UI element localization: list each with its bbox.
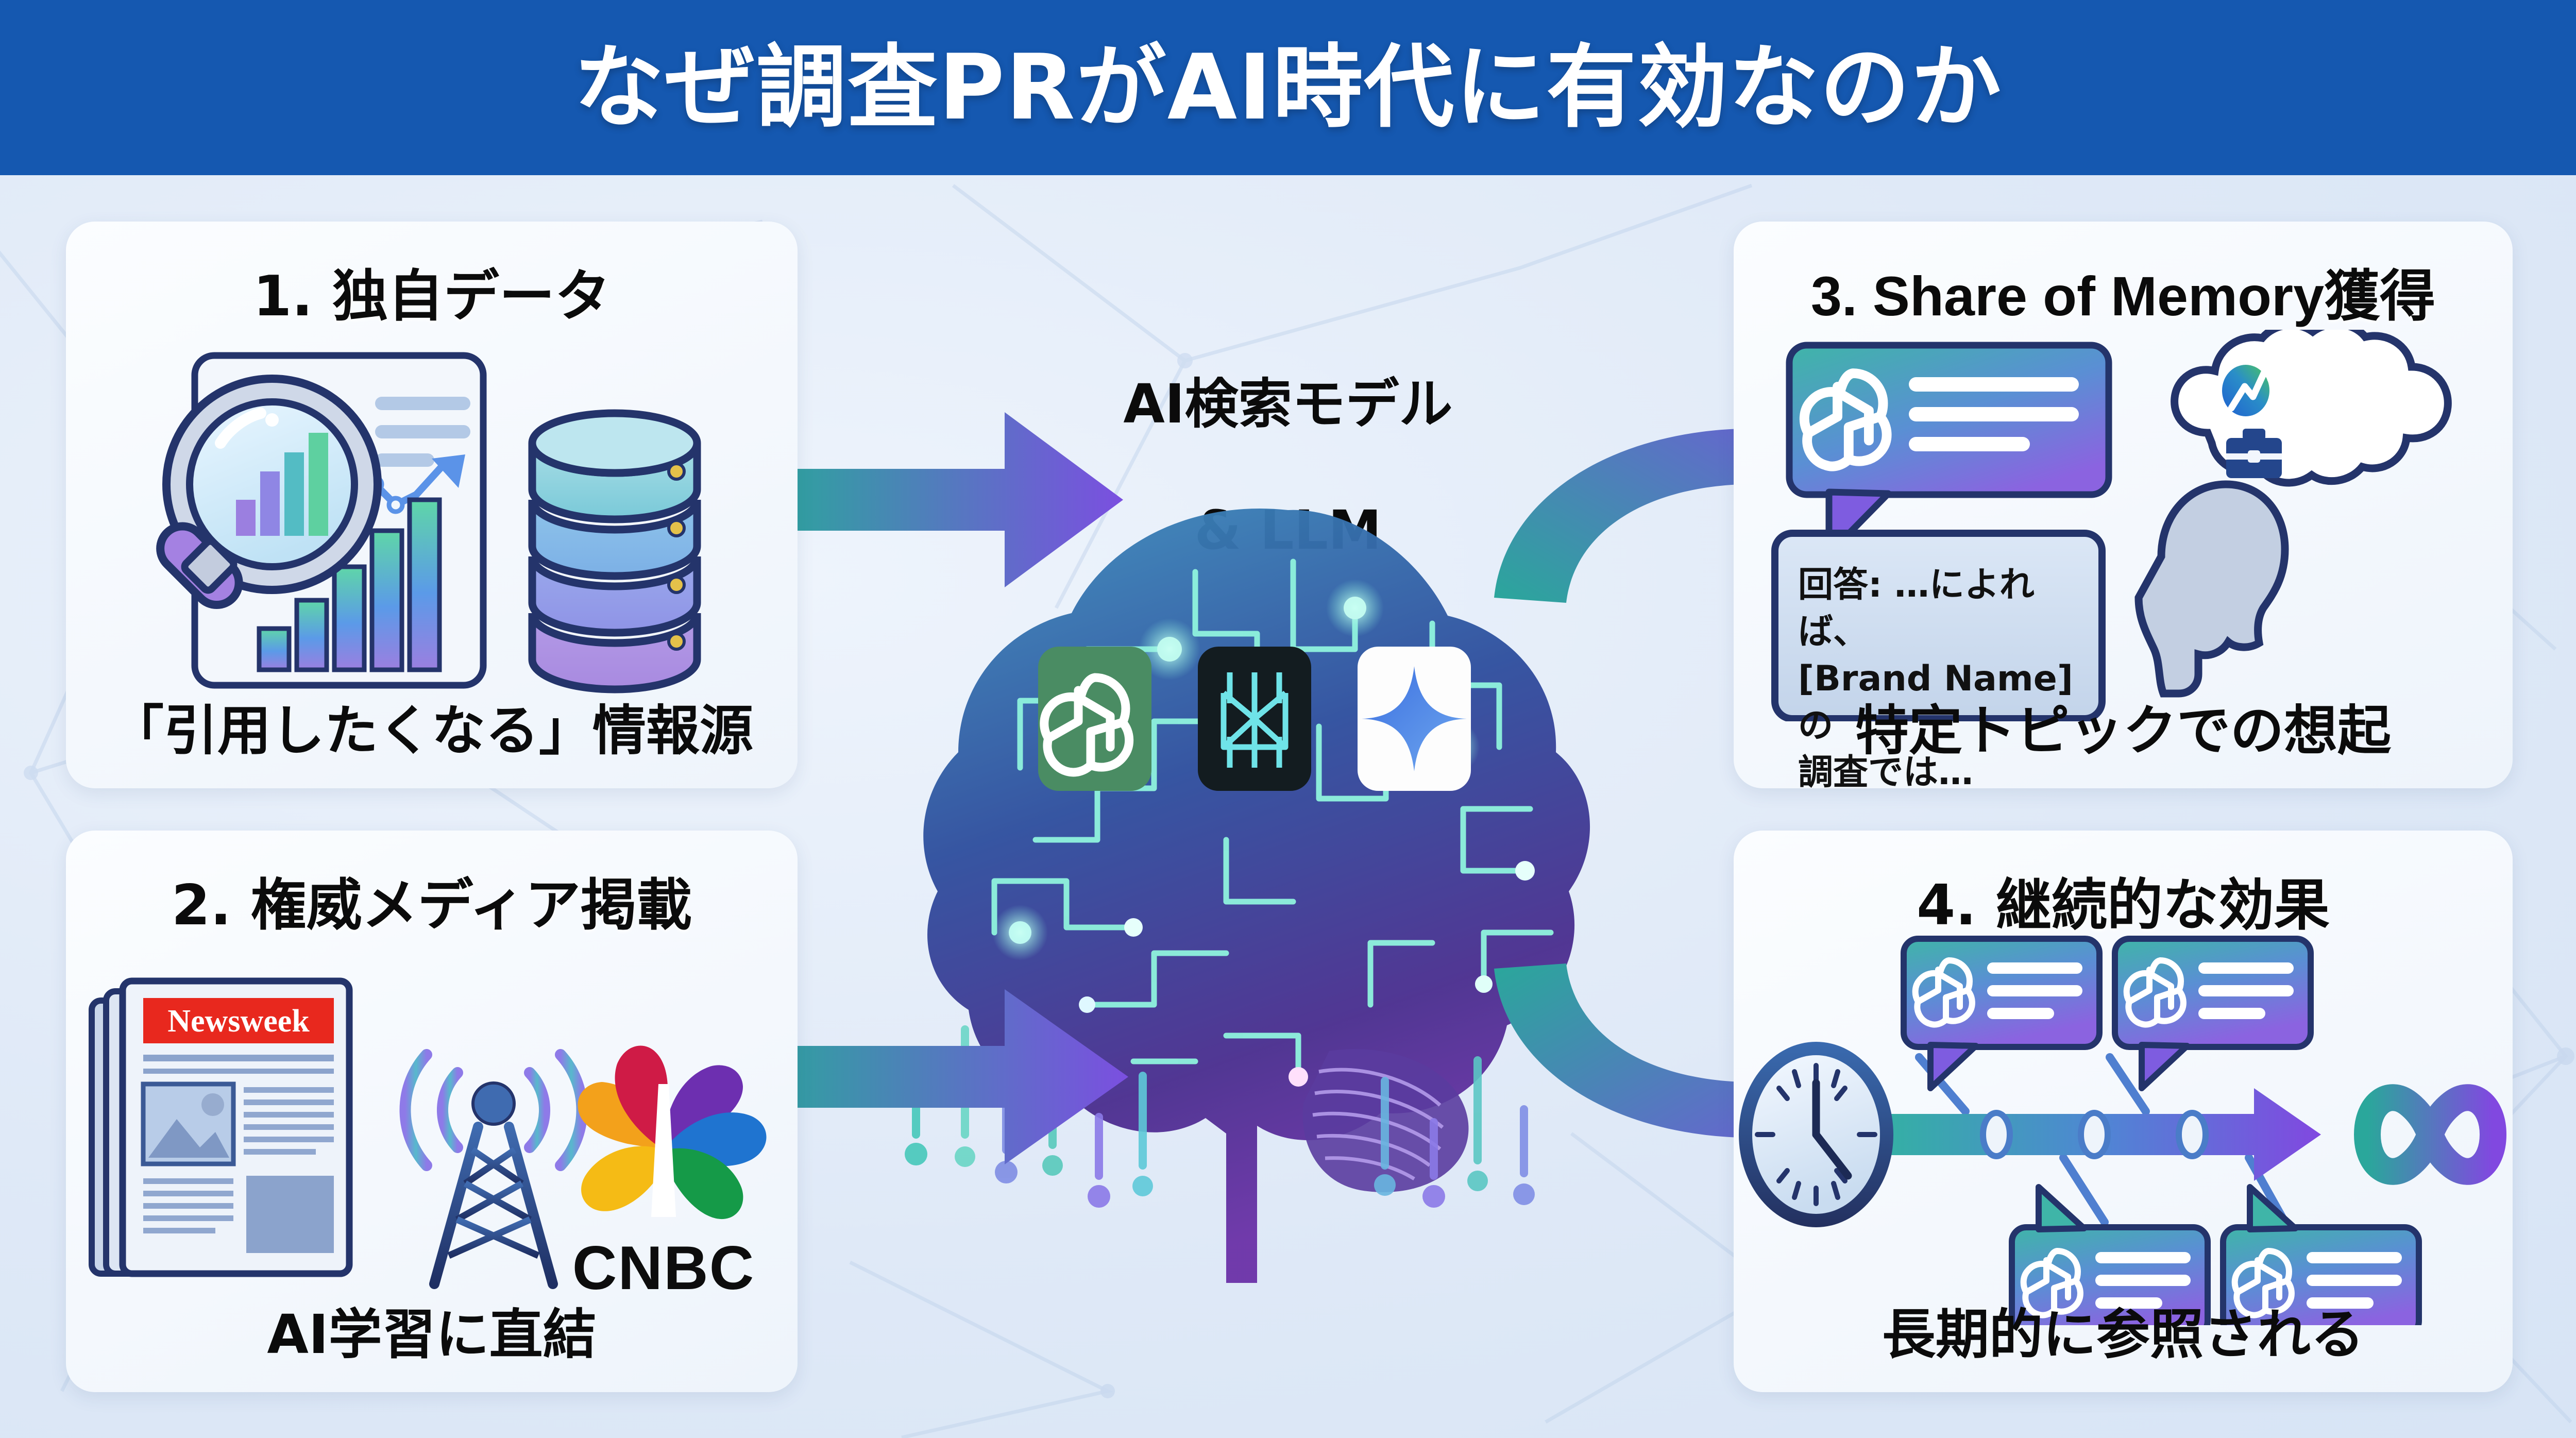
card3-title: 3. Share of Memory獲得 [1734,251,2513,332]
card1-title: 1. 独自データ [66,251,798,332]
center-label-line1: AI検索モデル [1123,373,1452,435]
answer-line-1: 回答: …によれば、 [1798,562,2087,655]
thought-cloud-shape [2175,330,2448,483]
clock-icon [1739,1042,1893,1227]
gemini-logo-tile [1358,647,1471,791]
head-silhouette-icon [2139,484,2285,693]
card3-footer: 特定トピックでの想起 [1734,687,2513,765]
openai-chat-bubble [1789,345,2109,554]
newspaper-icon: Newsweek [92,981,349,1274]
arrow-card2-to-brain [747,969,1139,1185]
card2-title: 2. 権威メディア掲載 [66,860,798,941]
page-title: なぜ調査PRがAI時代に有効なのか [574,43,2003,133]
openai-logo-tile [1038,647,1151,791]
newspaper-masthead: Newsweek [167,1004,310,1039]
chat-bubble-top-left [1904,939,2099,1088]
card2-artwork: Newsweek [66,949,798,1310]
ai-model-logo-tiles [1028,641,1492,796]
card-lasting-effect: 4. 継続的な効果 [1734,831,2513,1392]
header-bar: なぜ調査PRがAI時代に有効なのか [0,0,2576,175]
card1-footer: 「引用したくなる」情報源 [66,687,798,765]
database-stack-icon [532,413,697,689]
infographic-canvas: なぜ調査PRがAI時代に有効なのか AI検索モデル & LLM [0,0,2576,1438]
infinity-icon [2367,1097,2493,1172]
cnbc-peacock-logo: CNBC [572,1037,767,1302]
chat-bubble-top-right [2115,939,2311,1088]
card1-artwork [66,340,798,701]
thought-cloud-group [2125,330,2506,732]
perplexity-logo-tile [1198,647,1311,791]
timeline-arrow [1883,1088,2321,1181]
card-authority-media: 2. 権威メディア掲載 Ne [66,831,798,1392]
card4-artwork [1734,934,2513,1325]
card4-title: 4. 継続的な効果 [1734,860,2513,941]
broadcast-tower-icon [405,1055,582,1284]
card2-footer: AI学習に直結 [66,1291,798,1368]
arrow-card1-to-brain [762,392,1133,608]
card-independent-data: 1. 独自データ [66,222,798,788]
card-share-of-memory: 3. Share of Memory獲得 [1734,222,2513,788]
card4-footer: 長期的に参照される [1734,1291,2513,1368]
